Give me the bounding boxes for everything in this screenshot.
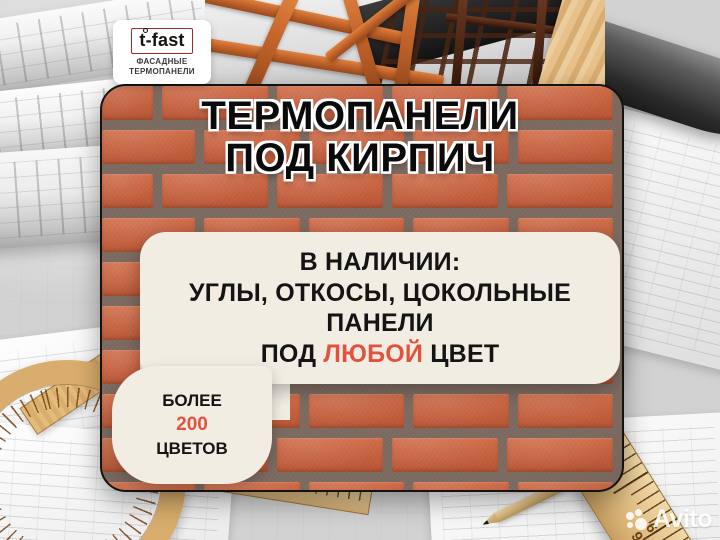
info-line-3: ПАНЕЛИ	[189, 308, 571, 339]
logo-subtitle: ФАСАДНЫЕ ТЕРМОПАНЕЛИ	[129, 57, 195, 77]
info-line-4-pre: ПОД	[261, 340, 324, 368]
colors-count-badge: БОЛЕЕ 200 ЦВЕТОВ	[112, 366, 272, 484]
headline-line-2: ПОД КИРПИЧ	[100, 138, 620, 180]
info-card-text: В НАЛИЧИИ: УГЛЫ, ОТКОСЫ, ЦОКОЛЬНЫЕ ПАНЕЛ…	[189, 247, 571, 369]
avito-wordmark: Avito	[653, 505, 712, 534]
poster-canvas: 4 5 6 7 8 9 10	[0, 0, 720, 540]
page-title: ТЕРМОПАНЕЛИ ПОД КИРПИЧ	[100, 96, 620, 179]
logo-wordmark-rest: -fast	[146, 30, 185, 51]
info-card: В НАЛИЧИИ: УГЛЫ, ОТКОСЫ, ЦОКОЛЬНЫЕ ПАНЕЛ…	[140, 232, 620, 384]
badge-line-3: ЦВЕТОВ	[156, 438, 228, 461]
avito-watermark: Avito	[626, 505, 712, 534]
logo-subtitle-line-2: ТЕРМОПАНЕЛИ	[129, 67, 195, 77]
badge-text: БОЛЕЕ 200 ЦВЕТОВ	[156, 390, 228, 461]
avito-logo-icon	[626, 509, 648, 531]
logo-letter-t: t	[139, 30, 145, 51]
info-line-4-highlight: ЛЮБОЙ	[323, 340, 423, 368]
info-line-2: УГЛЫ, ОТКОСЫ, ЦОКОЛЬНЫЕ	[189, 278, 571, 309]
logo-wordmark: t-fast	[131, 28, 192, 54]
badge-line-1: БОЛЕЕ	[156, 390, 228, 413]
info-line-1: В НАЛИЧИИ:	[189, 247, 571, 278]
logo-subtitle-line-1: ФАСАДНЫЕ	[129, 57, 195, 67]
brand-logo: t-fast ФАСАДНЫЕ ТЕРМОПАНЕЛИ	[113, 20, 211, 84]
headline-line-1: ТЕРМОПАНЕЛИ	[100, 96, 620, 138]
badge-number: 200	[156, 412, 228, 437]
info-line-4-post: ЦВЕТ	[423, 340, 499, 368]
info-line-4: ПОД ЛЮБОЙ ЦВЕТ	[189, 339, 571, 370]
roof-truss-photo	[205, 0, 605, 90]
